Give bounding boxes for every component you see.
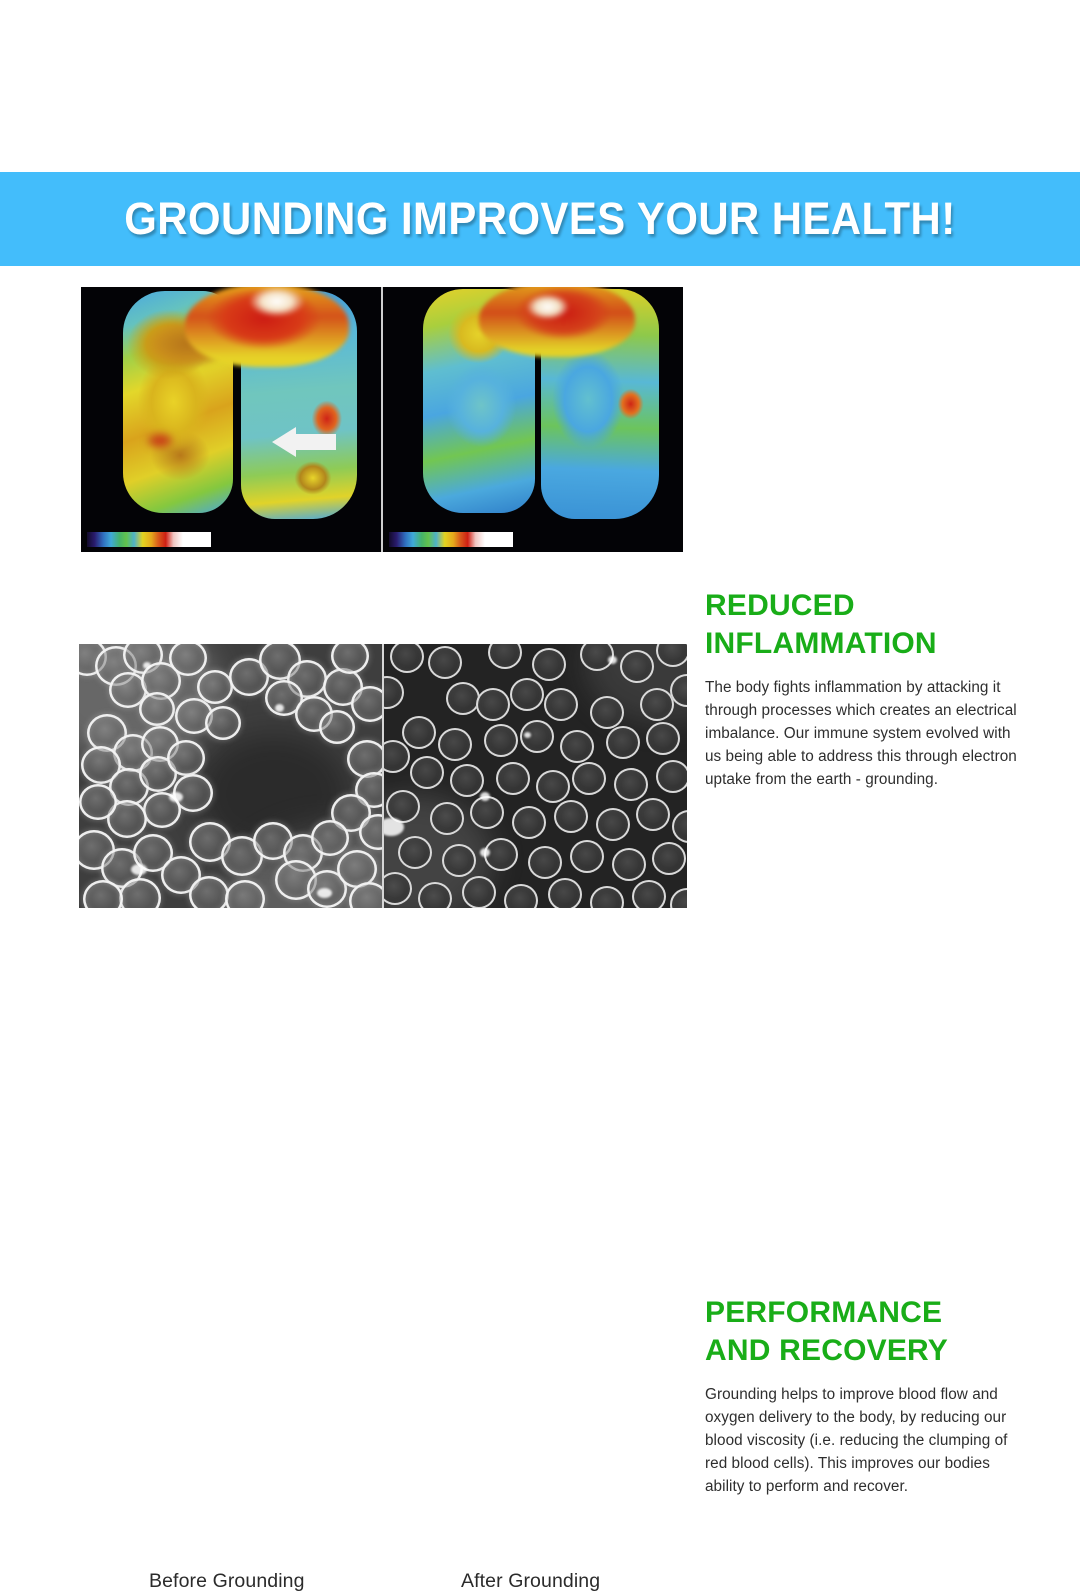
page-title: GROUNDING IMPROVES YOUR HEALTH!	[124, 193, 955, 245]
headline-performance-and-recovery: PERFORMANCE AND RECOVERY	[705, 1294, 1017, 1371]
thermal-image-before	[81, 287, 381, 552]
headline-line-2: AND RECOVERY	[705, 1332, 1017, 1370]
headline-line-1: REDUCED	[705, 587, 1017, 625]
caption-blood-before: Before Grounding	[149, 1570, 305, 1593]
text-column-reduced-inflammation: REDUCED INFLAMMATION The body fights inf…	[705, 587, 1017, 791]
headline-line-1: PERFORMANCE	[705, 1294, 1017, 1332]
blood-image-before	[79, 644, 382, 908]
thermal-scale-bar-white-tail-before	[183, 532, 211, 547]
headline-reduced-inflammation: REDUCED INFLAMMATION	[705, 587, 1017, 664]
thermal-hotspot-inner-knee	[147, 433, 173, 448]
thermal-legs-after	[383, 287, 683, 552]
thermal-scale-bar-white-tail-after	[485, 532, 513, 547]
body-copy-performance-and-recovery: Grounding helps to improve blood flow an…	[705, 1384, 1017, 1499]
blood-image-after	[384, 644, 687, 908]
thermal-scale-bar-after	[389, 532, 485, 547]
caption-blood-after: After Grounding	[461, 1570, 600, 1593]
headline-line-2: INFLAMMATION	[705, 625, 1017, 663]
blood-comparison-media	[79, 644, 687, 908]
header-banner: GROUNDING IMPROVES YOUR HEALTH!	[0, 172, 1080, 266]
body-copy-reduced-inflammation: The body fights inflammation by attackin…	[705, 677, 1017, 792]
thermal-scale-bar-before	[87, 532, 183, 547]
thermal-comparison-media	[81, 287, 683, 552]
thermal-hotspot-hip-after	[479, 287, 635, 357]
thermal-hotspot-hip	[185, 287, 349, 367]
thermal-legs-before	[81, 287, 381, 552]
thermal-image-after	[383, 287, 683, 552]
text-column-performance-and-recovery: PERFORMANCE AND RECOVERY Grounding helps…	[705, 1294, 1017, 1498]
infographic-page: GROUNDING IMPROVES YOUR HEALTH!	[0, 0, 1080, 1080]
